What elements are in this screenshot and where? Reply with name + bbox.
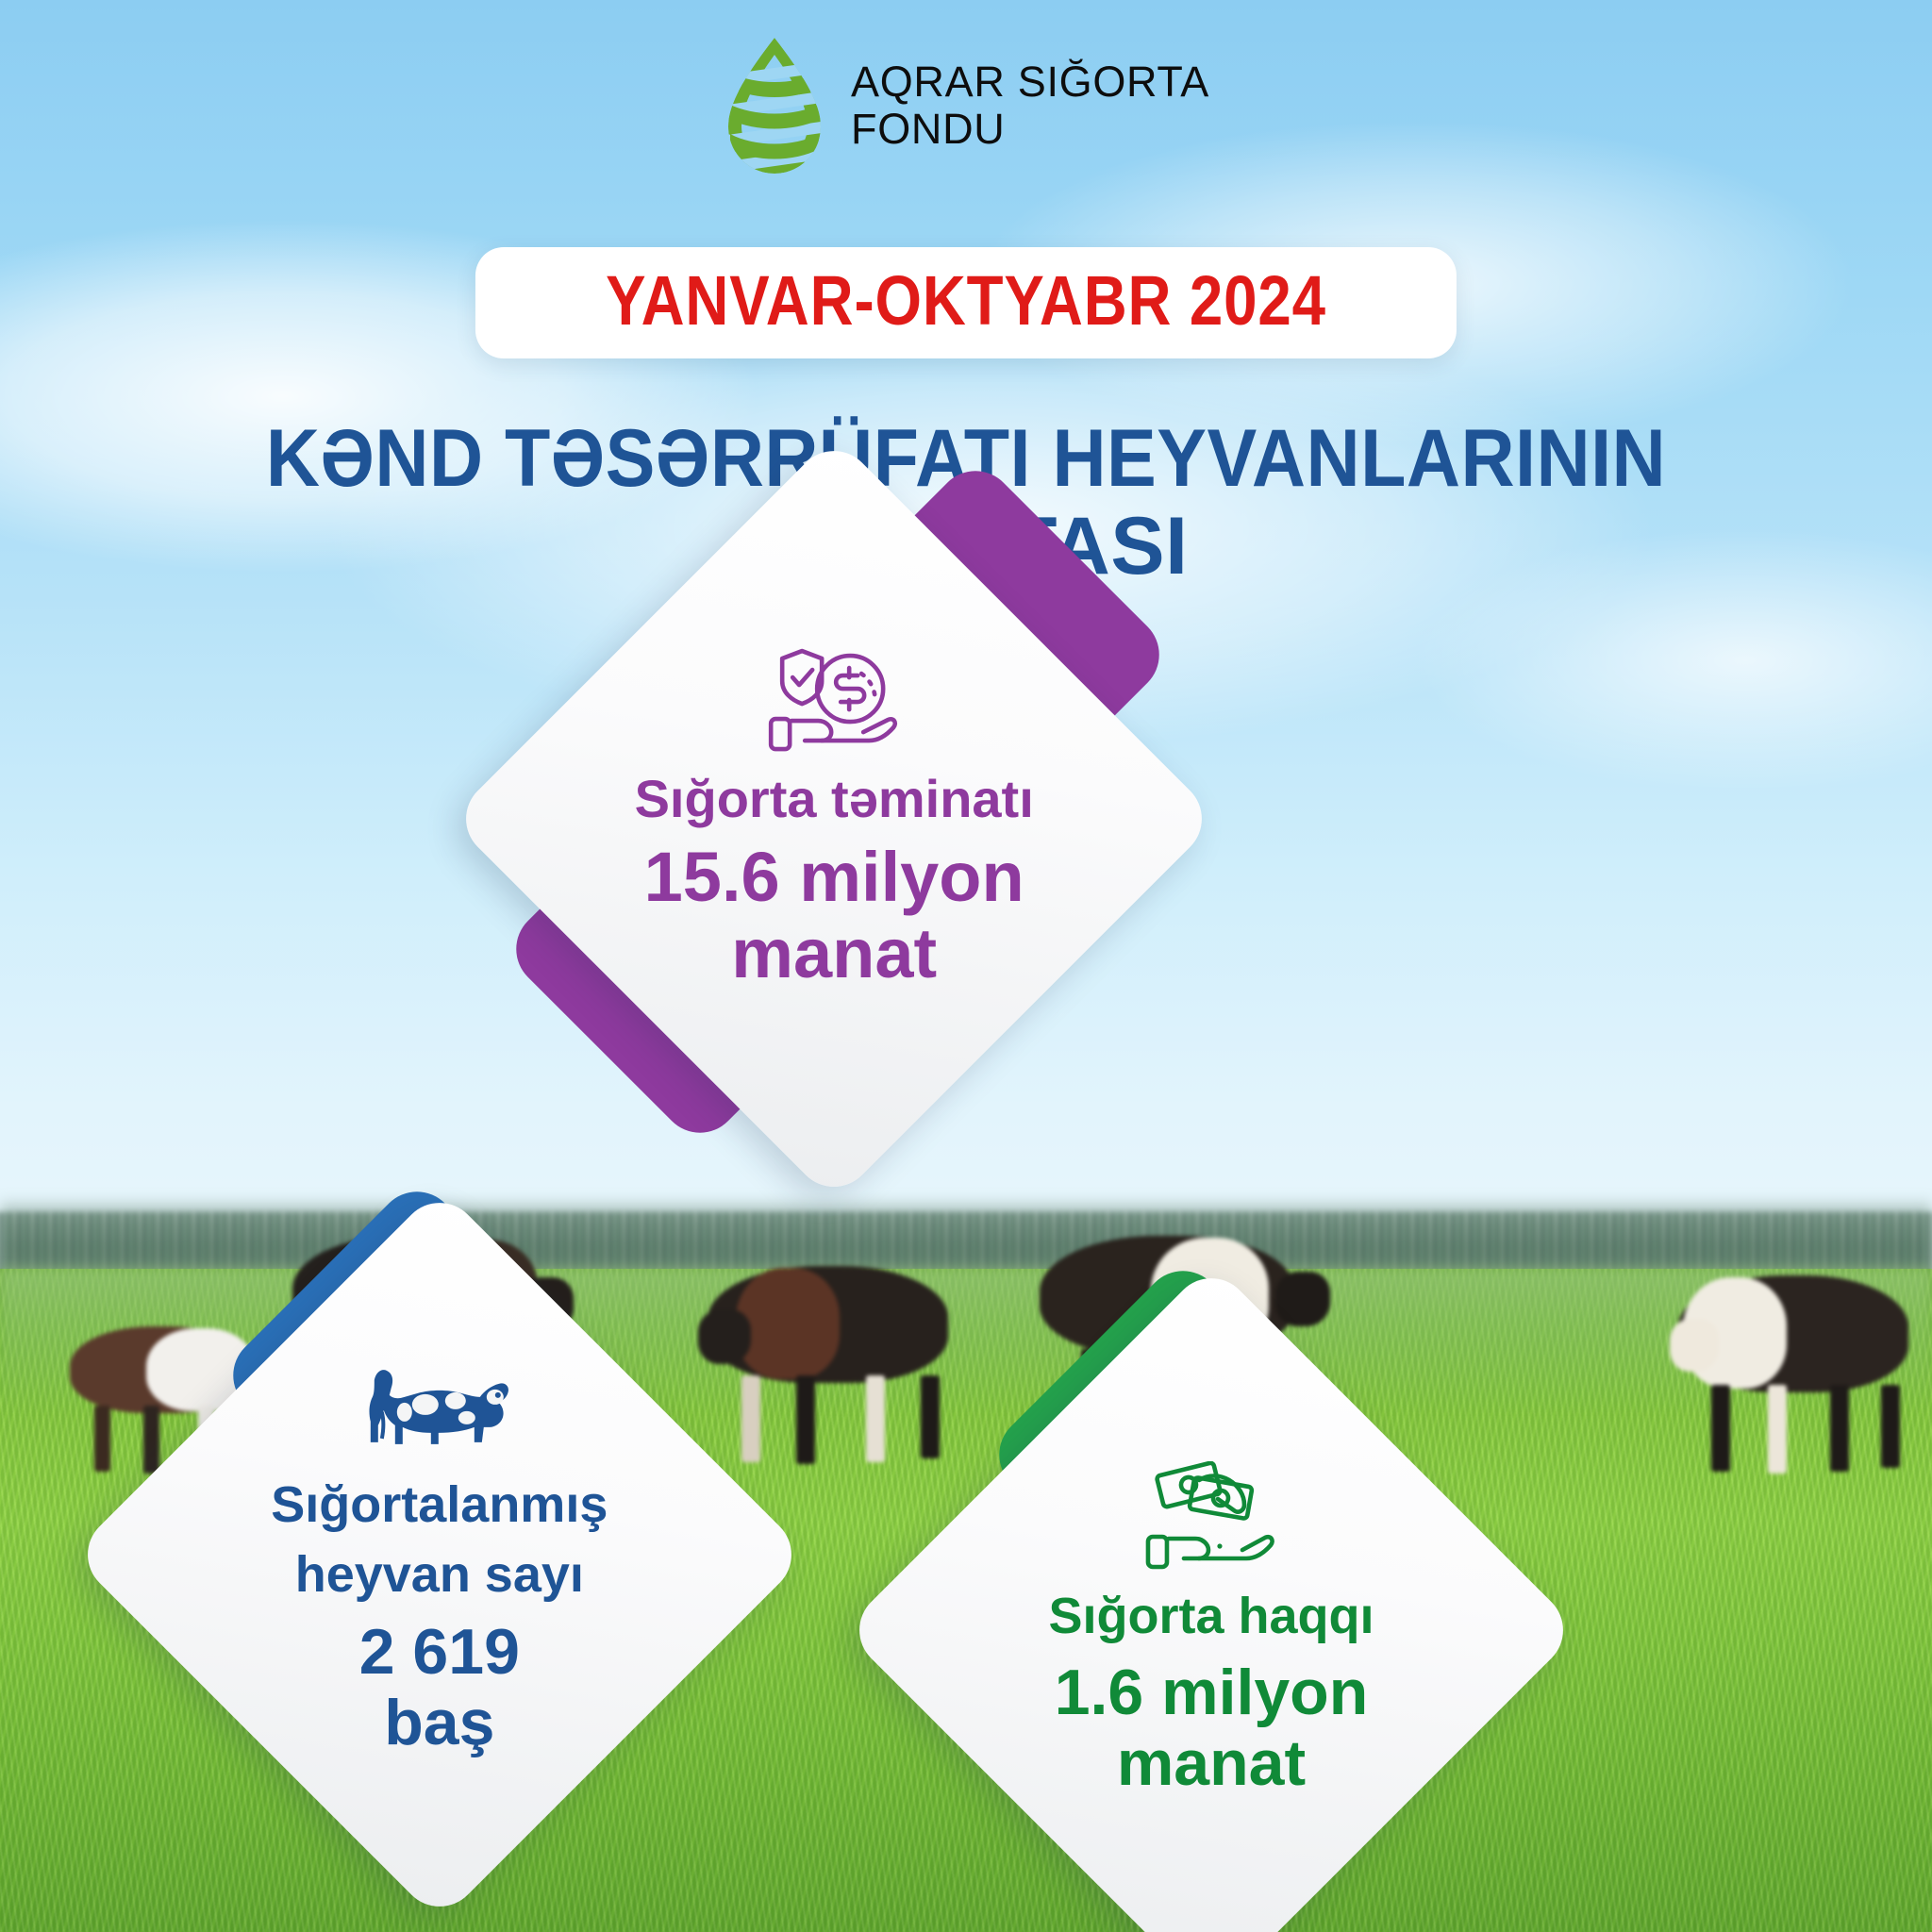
date-badge-label: YANVAR-OKTYABR 2024 xyxy=(606,266,1326,336)
stat-card-unit: baş xyxy=(384,1687,494,1757)
cow-photo-5 xyxy=(1670,1264,1932,1462)
brand-name: AQRAR SIĞORTA FONDU xyxy=(851,58,1209,154)
stat-card-value: 1.6 milyon xyxy=(1055,1657,1369,1728)
stat-card-label: Sığorta təminatı xyxy=(634,770,1033,829)
stat-card-label-line2: heyvan sayı xyxy=(295,1546,584,1603)
stat-card-label: Sığorta haqqı xyxy=(1048,1588,1374,1644)
infographic-poster: AQRAR SIĞORTA FONDU YANVAR-OKTYABR 2024 … xyxy=(0,0,1932,1932)
cow-icon xyxy=(361,1352,518,1463)
stat-card-value: 2 619 xyxy=(359,1617,520,1688)
cow-photo-3 xyxy=(698,1255,981,1453)
stat-card-unit: manat xyxy=(1117,1728,1306,1799)
hand-banknotes-icon xyxy=(1141,1461,1282,1574)
stat-card-label-line1: Sığortalanmış xyxy=(271,1476,608,1533)
leaf-droplet-logo-icon xyxy=(723,36,826,175)
shield-hand-money-icon xyxy=(763,645,905,757)
stat-card-value: 15.6 milyon xyxy=(643,839,1024,915)
date-badge: YANVAR-OKTYABR 2024 xyxy=(475,247,1457,358)
stat-card-unit: manat xyxy=(731,915,937,991)
brand-logo: AQRAR SIĞORTA FONDU xyxy=(0,36,1932,175)
